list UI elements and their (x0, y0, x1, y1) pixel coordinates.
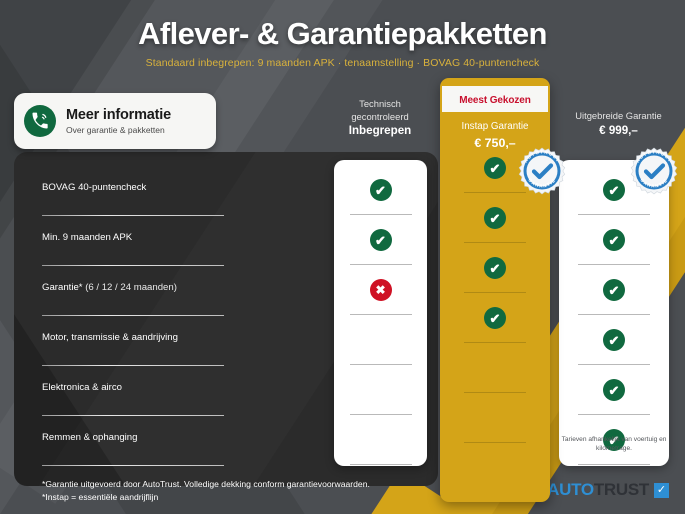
plan-mark-row: ✔ (559, 222, 669, 272)
column-header-uitgebreide-garantie: Uitgebreide Garantie € 999,– (556, 110, 681, 137)
check-icon: ✔ (603, 329, 625, 351)
more-info-texts: Meer informatie Over garantie & pakkette… (66, 107, 171, 135)
logo-trust-text: TRUST (594, 480, 649, 500)
check-icon: ✔ (484, 257, 506, 279)
plan-mark-row: ✔ (559, 322, 669, 372)
feature-row: Motor, transmissie & aandrijving (42, 324, 232, 374)
page-title: Aflever- & Garantiepakketten (0, 16, 685, 52)
check-icon: ✔ (484, 207, 506, 229)
plan-mark-divider (578, 414, 650, 415)
plan-mark-divider (350, 464, 412, 465)
plan-mark-divider (578, 464, 650, 465)
feature-divider (42, 215, 224, 217)
plan-mark-divider (350, 214, 412, 215)
autotrust-logo: AUTOTRUST ✓ (547, 480, 669, 500)
feature-divider (42, 265, 224, 267)
plan-mark-divider (350, 314, 412, 315)
feature-divider (42, 315, 224, 317)
logo-check-icon: ✓ (654, 483, 669, 498)
plan-card-uitgebreide-garantie[interactable]: ✔✔✔✔✔✔ Tarieven afhankelijk van voertuig… (559, 160, 669, 466)
plan-card-instap-garantie[interactable]: Meest Gekozen Instap Garantie € 750,– ✔✔… (440, 78, 550, 502)
page-subtitle: Standaard inbegrepen: 9 maanden APK · te… (0, 57, 685, 69)
plan-mark-divider (464, 292, 526, 293)
column-header-technisch-gecontroleerd: Technisch gecontroleerd Inbegrepen (330, 98, 430, 137)
check-icon: ✔ (603, 379, 625, 401)
check-icon: ✔ (370, 229, 392, 251)
feature-label: BOVAG 40-puntencheck (42, 182, 146, 193)
footnotes: *Garantie uitgevoerd door AutoTrust. Vol… (42, 478, 370, 505)
footnote-line-1: *Garantie uitgevoerd door AutoTrust. Vol… (42, 478, 370, 491)
plan-mark-row (440, 400, 550, 450)
plan-mark-row: ✔ (440, 300, 550, 350)
most-chosen-label: Meest Gekozen (459, 95, 531, 106)
footnote-line-2: *Instap = essentiële aandrijflijn (42, 491, 370, 504)
column-header-line2: gecontroleerd (330, 111, 430, 124)
feature-row: Min. 9 maanden APK (42, 224, 232, 274)
plan-marks-list: ✔✔✔✔✔✔ (559, 172, 669, 472)
plan-mark-row (440, 350, 550, 400)
plan-mark-divider (578, 214, 650, 215)
plan-mark-divider (464, 392, 526, 393)
plan-mark-row: ✔ (559, 272, 669, 322)
column-header-price: € 999,– (556, 124, 681, 137)
plan-mark-divider (578, 364, 650, 365)
plan-mark-row: ✔ (440, 250, 550, 300)
plan-mark-divider (464, 442, 526, 443)
feature-row: Remmen & ophanging (42, 424, 232, 474)
check-icon: ✔ (370, 179, 392, 201)
page-header: Aflever- & Garantiepakketten Standaard i… (0, 0, 685, 69)
phone-call-icon (24, 105, 56, 137)
plan-card-technisch-gecontroleerd[interactable]: ✔✔✖ (334, 160, 427, 466)
feature-note: (6 / 12 / 24 maanden) (83, 282, 177, 293)
check-icon: ✔ (484, 157, 506, 179)
check-icon: ✔ (603, 279, 625, 301)
feature-label: Garantie* (6 / 12 / 24 maanden) (42, 282, 177, 293)
plan-mark-divider (350, 264, 412, 265)
feature-row: Elektronica & airco (42, 374, 232, 424)
feature-divider (42, 365, 224, 367)
plan-mark-row (334, 422, 427, 472)
plan-mark-row (334, 322, 427, 372)
plan-mark-row: ✖ (334, 272, 427, 322)
column-header-line1: Technisch (330, 98, 430, 111)
feature-list: BOVAG 40-puntencheckMin. 9 maanden APKGa… (42, 174, 232, 474)
plan-mark-divider (350, 364, 412, 365)
autotrust-garantie-seal-icon: AUTOTRUST GARANTIE (516, 145, 568, 197)
check-icon: ✔ (484, 307, 506, 329)
column-header-line1: Uitgebreide Garantie (556, 110, 681, 123)
feature-row: Garantie* (6 / 12 / 24 maanden) (42, 274, 232, 324)
plan-mark-divider (464, 242, 526, 243)
more-info-subtitle: Over garantie & pakketten (66, 125, 171, 135)
plan-mark-row: ✔ (559, 372, 669, 422)
plan-mark-row (334, 372, 427, 422)
plan-mark-row: ✔ (334, 222, 427, 272)
plan-marks-list: ✔✔✖ (334, 172, 427, 472)
feature-label: Remmen & ophanging (42, 432, 137, 443)
tariff-note: Tarieven afhankelijk van voertuig en kil… (559, 435, 669, 454)
most-chosen-badge: Meest Gekozen (442, 86, 548, 112)
plan-mark-row: ✔ (440, 200, 550, 250)
check-icon: ✔ (603, 229, 625, 251)
plan-mark-divider (350, 414, 412, 415)
column-header-price: Inbegrepen (330, 124, 430, 137)
autotrust-garantie-seal-icon: AUTOTRUST GARANTIE (628, 145, 680, 197)
feature-label: Elektronica & airco (42, 382, 122, 393)
feature-label: Motor, transmissie & aandrijving (42, 332, 178, 343)
plan-name: Instap Garantie (440, 121, 550, 132)
plan-mark-divider (464, 342, 526, 343)
feature-divider (42, 465, 224, 467)
feature-divider (42, 415, 224, 417)
cross-icon: ✖ (370, 279, 392, 301)
more-info-card[interactable]: Meer informatie Over garantie & pakkette… (14, 93, 216, 149)
feature-row: BOVAG 40-puntencheck (42, 174, 232, 224)
more-info-title: Meer informatie (66, 107, 171, 123)
feature-label: Min. 9 maanden APK (42, 232, 132, 243)
plan-mark-row: ✔ (334, 172, 427, 222)
check-icon: ✔ (603, 179, 625, 201)
plan-mark-divider (578, 314, 650, 315)
plan-mark-divider (578, 264, 650, 265)
logo-auto-text: AUTO (547, 480, 594, 500)
